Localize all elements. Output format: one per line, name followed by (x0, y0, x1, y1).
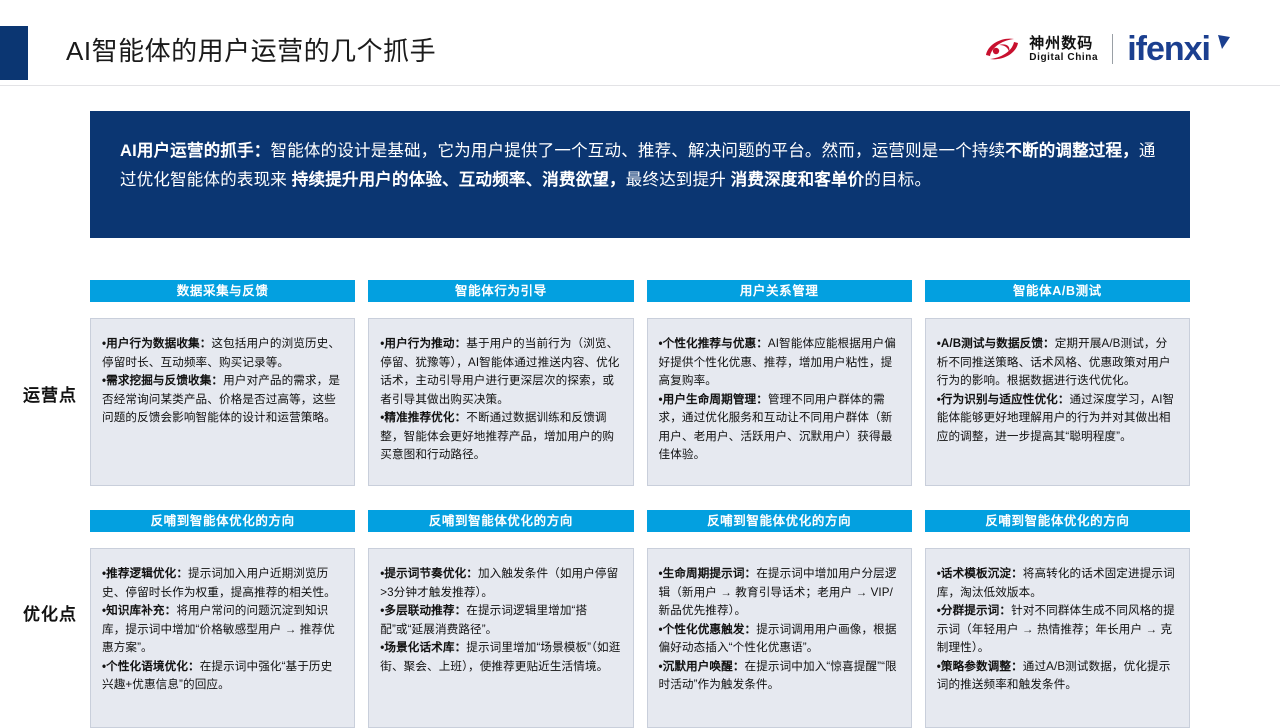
list-item: •用户生命周期管理：管理不同用户群体的需求，通过优化服务和互动让不同用户群体（新… (659, 391, 900, 465)
hero-lead: AI用户运营的抓手： (120, 142, 271, 160)
list-item: •提示词节奏优化：加入触发条件（如用户停留>3分钟才触发推荐）。 (380, 565, 621, 602)
logo-zone: 神州数码 Digital China ifenxi (982, 28, 1214, 70)
digital-china-en-name: Digital China (1029, 53, 1098, 63)
column-user-relationship: 用户关系管理 •个性化推荐与优惠：AI智能体应能根据用户偏好提供个性化优惠、推荐… (647, 280, 912, 486)
bullet-title: •知识库补充： (102, 604, 176, 617)
column-header: 数据采集与反馈 (90, 280, 355, 302)
digital-china-logo: 神州数码 Digital China (982, 34, 1098, 64)
hero-lead-3: 持续提升用户的体验、互动频率、消费欲望， (292, 171, 626, 189)
column-body: •提示词节奏优化：加入触发条件（如用户停留>3分钟才触发推荐）。 •多层联动推荐… (368, 548, 633, 728)
bullet-title: •用户生命周期管理： (659, 393, 768, 406)
logo-divider (1112, 34, 1113, 64)
bullet-title: •个性化语境优化： (102, 660, 200, 673)
list-item: •分群提示词：针对不同群体生成不同风格的提示词（年轻用户 → 热情推荐；年长用户… (937, 602, 1178, 658)
column-ab-testing: 智能体A/B测试 •A/B测试与数据反馈：定期开展A/B测试，分析不同推送策略、… (925, 280, 1190, 486)
list-item: •用户行为数据收集：这包括用户的浏览历史、停留时长、互动频率、购买记录等。 (102, 335, 343, 372)
list-item: •多层联动推荐：在提示词逻辑里增加“搭配”或“延展消费路径”。 (380, 602, 621, 639)
column-feedback-direction-3: 反哺到智能体优化的方向 •生命周期提示词：在提示词中增加用户分层逻辑（新用户 →… (647, 510, 912, 728)
column-body: •个性化推荐与优惠：AI智能体应能根据用户偏好提供个性化优惠、推荐，增加用户粘性… (647, 318, 912, 486)
list-item: •A/B测试与数据反馈：定期开展A/B测试，分析不同推送策略、话术风格、优惠政策… (937, 335, 1178, 391)
list-item: •生命周期提示词：在提示词中增加用户分层逻辑（新用户 → 教育引导话术；老用户 … (659, 565, 900, 621)
list-item: •话术模板沉淀：将高转化的话术固定进提示词库，淘汰低效版本。 (937, 565, 1178, 602)
hero-lead-4: 消费深度和客单价 (731, 171, 865, 189)
column-header: 反哺到智能体优化的方向 (647, 510, 912, 532)
column-body: •A/B测试与数据反馈：定期开展A/B测试，分析不同推送策略、话术风格、优惠政策… (925, 318, 1190, 486)
column-header: 用户关系管理 (647, 280, 912, 302)
list-item: •个性化优惠触发：提示词调用用户画像，根据偏好动态插入“个性化优惠语”。 (659, 621, 900, 658)
column-body: •推荐逻辑优化：提示词加入用户近期浏览历史、停留时长作为权重，提高推荐的相关性。… (90, 548, 355, 728)
list-item: •个性化语境优化：在提示词中强化“基于历史兴趣+优惠信息”的回应。 (102, 658, 343, 695)
hero-summary-panel: AI用户运营的抓手：智能体的设计是基础，它为用户提供了一个互动、推荐、解决问题的… (90, 111, 1190, 238)
list-item: •沉默用户唤醒：在提示词中加入“惊喜提醒”“限时活动”作为触发条件。 (659, 658, 900, 695)
page-title: AI智能体的用户运营的几个抓手 (66, 32, 436, 70)
bullet-title: •话术模板沉淀： (937, 567, 1023, 580)
hero-body-1: 智能体的设计是基础，它为用户提供了一个互动、推荐、解决问题的平台。然而，运营则是… (271, 142, 1006, 160)
hero-body-3: 最终达到提升 (626, 171, 731, 189)
hero-lead-2: 不断的调整过程， (1005, 142, 1139, 160)
digital-china-wordmark: 神州数码 Digital China (1029, 36, 1098, 63)
bullet-title: •个性化推荐与优惠： (659, 337, 768, 350)
bullet-title: •沉默用户唤醒： (659, 660, 745, 673)
list-item: •行为识别与适应性优化：通过深度学习，AI智能体能够更好地理解用户的行为并对其做… (937, 391, 1178, 447)
column-body: •话术模板沉淀：将高转化的话术固定进提示词库，淘汰低效版本。 •分群提示词：针对… (925, 548, 1190, 728)
list-item: •场景化话术库：提示词里增加“场景模板”（如逛街、聚会、上班），使推荐更贴近生活… (380, 639, 621, 676)
bullet-title: •分群提示词： (937, 604, 1011, 617)
digital-china-swirl-icon (982, 34, 1022, 64)
hero-body-4: 的目标。 (864, 171, 931, 189)
column-header: 反哺到智能体优化的方向 (925, 510, 1190, 532)
column-header: 反哺到智能体优化的方向 (90, 510, 355, 532)
list-item: •需求挖掘与反馈收集：用户对产品的需求，是否经常询问某类产品、价格是否过高等，这… (102, 372, 343, 428)
bullet-title: •策略参数调整： (937, 660, 1023, 673)
grid-row-optimization: 反哺到智能体优化的方向 •推荐逻辑优化：提示词加入用户近期浏览历史、停留时长作为… (90, 510, 1190, 728)
column-data-collection: 数据采集与反馈 •用户行为数据收集：这包括用户的浏览历史、停留时长、互动频率、购… (90, 280, 355, 486)
row-label-optimization: 优化点 (12, 600, 88, 625)
digital-china-cn-name: 神州数码 (1029, 36, 1098, 51)
bullet-title: •提示词节奏优化： (380, 567, 478, 580)
column-feedback-direction-4: 反哺到智能体优化的方向 •话术模板沉淀：将高转化的话术固定进提示词库，淘汰低效版… (925, 510, 1190, 728)
list-item: •策略参数调整：通过A/B测试数据，优化提示词的推送频率和触发条件。 (937, 658, 1178, 695)
bullet-title: •场景化话术库： (380, 641, 466, 654)
column-body: •生命周期提示词：在提示词中增加用户分层逻辑（新用户 → 教育引导话术；老用户 … (647, 548, 912, 728)
column-feedback-direction-2: 反哺到智能体优化的方向 •提示词节奏优化：加入触发条件（如用户停留>3分钟才触发… (368, 510, 633, 728)
column-feedback-direction-1: 反哺到智能体优化的方向 •推荐逻辑优化：提示词加入用户近期浏览历史、停留时长作为… (90, 510, 355, 728)
bullet-title: •个性化优惠触发： (659, 623, 757, 636)
list-item: •知识库补充：将用户常问的问题沉淀到知识库，提示词中增加“价格敏感型用户 → 推… (102, 602, 343, 658)
bullet-title: •多层联动推荐： (380, 604, 466, 617)
ifenxi-logo: ifenxi (1127, 32, 1214, 66)
column-behavior-guidance: 智能体行为引导 •用户行为推动：基于用户的当前行为（浏览、停留、犹豫等），AI智… (368, 280, 633, 486)
column-header: 智能体A/B测试 (925, 280, 1190, 302)
bullet-title: •推荐逻辑优化： (102, 567, 188, 580)
list-item: •个性化推荐与优惠：AI智能体应能根据用户偏好提供个性化优惠、推荐，增加用户粘性… (659, 335, 900, 391)
column-header: 反哺到智能体优化的方向 (368, 510, 633, 532)
hero-summary-text: AI用户运营的抓手：智能体的设计是基础，它为用户提供了一个互动、推荐、解决问题的… (120, 137, 1160, 195)
header-accent-bar (0, 26, 28, 80)
list-item: •精准推荐优化：不断通过数据训练和反馈调整，智能体会更好地推荐产品，增加用户的购… (380, 409, 621, 465)
row-label-operations: 运营点 (12, 381, 88, 406)
column-body: •用户行为推动：基于用户的当前行为（浏览、停留、犹豫等），AI智能体通过推送内容… (368, 318, 633, 486)
bullet-title: •行为识别与适应性优化： (937, 393, 1070, 406)
matrix-grid: 数据采集与反馈 •用户行为数据收集：这包括用户的浏览历史、停留时长、互动频率、购… (90, 280, 1190, 728)
bullet-title: •精准推荐优化： (380, 411, 466, 424)
bullet-title: •用户行为推动： (380, 337, 466, 350)
column-body: •用户行为数据收集：这包括用户的浏览历史、停留时长、互动频率、购买记录等。 •需… (90, 318, 355, 486)
column-header: 智能体行为引导 (368, 280, 633, 302)
list-item: •推荐逻辑优化：提示词加入用户近期浏览历史、停留时长作为权重，提高推荐的相关性。 (102, 565, 343, 602)
bullet-title: •用户行为数据收集： (102, 337, 211, 350)
ifenxi-wordmark: ifenxi (1127, 30, 1210, 68)
list-item: •用户行为推动：基于用户的当前行为（浏览、停留、犹豫等），AI智能体通过推送内容… (380, 335, 621, 409)
bullet-title: •需求挖掘与反馈收集： (102, 374, 223, 387)
bullet-title: •生命周期提示词： (659, 567, 757, 580)
bullet-title: •A/B测试与数据反馈： (937, 337, 1055, 350)
slide-header: AI智能体的用户运营的几个抓手 神州数码 Digital China ifenx… (0, 0, 1280, 86)
grid-row-operations: 数据采集与反馈 •用户行为数据收集：这包括用户的浏览历史、停留时长、互动频率、购… (90, 280, 1190, 486)
